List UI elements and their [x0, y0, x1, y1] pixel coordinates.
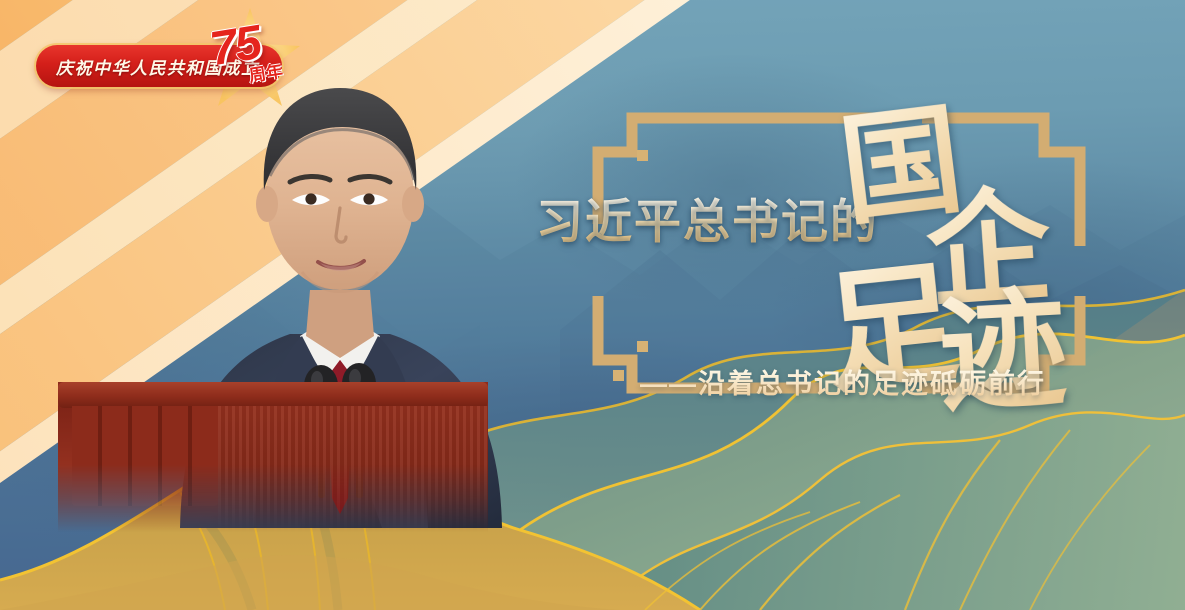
- calligraphy-char-ji: 迹: [933, 245, 1071, 436]
- frame-tick-left-bottom: [637, 341, 648, 352]
- anniversary-unit: 周年: [247, 57, 284, 87]
- page-subtitle: ——沿着总书记的足迹砥砺前行: [640, 362, 1046, 401]
- calligraphy-title: 国 企 足 迹: [830, 72, 1080, 392]
- frame-tick-left-top: [637, 150, 648, 161]
- podium-face: [218, 406, 488, 532]
- podium-rail: [58, 382, 488, 408]
- podium-legs: [72, 406, 218, 506]
- podium: [58, 382, 488, 532]
- frame-tick-bottom: [613, 370, 624, 381]
- anniversary-mark: 75 周年: [204, 8, 302, 104]
- promo-banner: 庆祝中华人民共和国成立 75 周年 习近平总书记的 国 企 足 迹: [0, 0, 1185, 610]
